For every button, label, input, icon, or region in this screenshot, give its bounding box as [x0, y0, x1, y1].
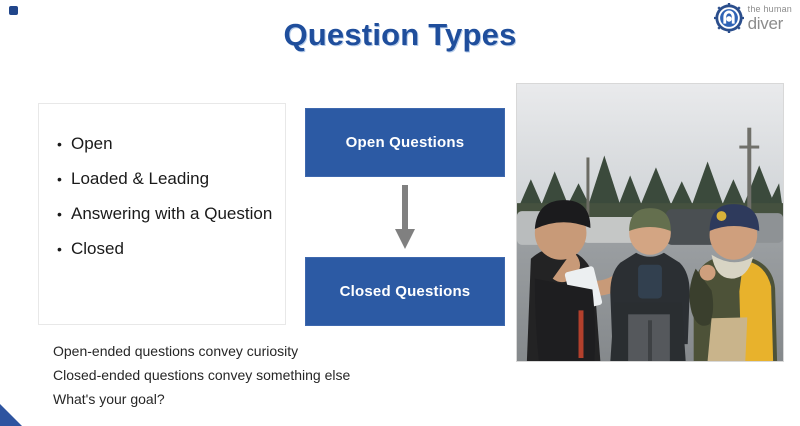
closed-questions-box: Closed Questions	[305, 257, 505, 326]
bullet-marker-icon: •	[57, 206, 71, 222]
footer-line: What's your goal?	[53, 391, 350, 407]
list-item-label: Open	[71, 134, 113, 154]
list-item-label: Loaded & Leading	[71, 169, 209, 189]
list-item-label: Closed	[71, 239, 124, 259]
slide-title: Question Types	[0, 17, 800, 53]
footer-notes: Open-ended questions convey curiosity Cl…	[53, 343, 350, 415]
list-item: • Loaded & Leading	[57, 169, 285, 189]
bullet-list-panel: • Open • Loaded & Leading • Answering wi…	[38, 103, 286, 325]
footer-line: Closed-ended questions convey something …	[53, 367, 350, 383]
list-item: • Closed	[57, 239, 285, 259]
bullet-marker-icon: •	[57, 171, 71, 187]
list-item: • Open	[57, 134, 285, 154]
corner-wedge-decoration	[0, 404, 22, 426]
brand-logo-line1: the human	[748, 5, 792, 14]
bullet-list: • Open • Loaded & Leading • Answering wi…	[39, 104, 285, 259]
bullet-marker-icon: •	[57, 241, 71, 257]
open-questions-box: Open Questions	[305, 108, 505, 177]
footer-line: Open-ended questions convey curiosity	[53, 343, 350, 359]
slide-canvas: the human diver Question Types • Open • …	[0, 0, 800, 426]
down-arrow-icon	[393, 185, 417, 251]
list-item: • Answering with a Question	[57, 204, 285, 224]
corner-dot-decoration	[9, 6, 18, 15]
bullet-marker-icon: •	[57, 136, 71, 152]
list-item-label: Answering with a Question	[71, 204, 272, 224]
presentation-photo	[516, 83, 784, 362]
